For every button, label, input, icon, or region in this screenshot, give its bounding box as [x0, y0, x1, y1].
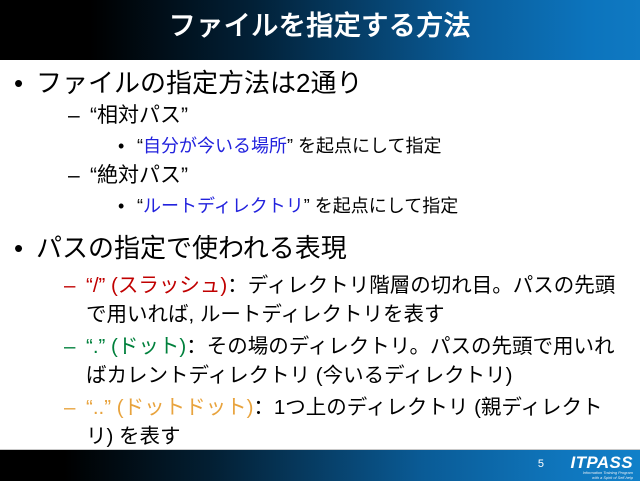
- bullet-dot-icon: •: [14, 231, 23, 265]
- slash-term: “/” (スラッシュ): [86, 274, 227, 297]
- bullet-level2-relative-path: – “相対パス”: [0, 102, 640, 130]
- dotdot-term: “..” (ドットドット): [86, 396, 253, 419]
- dash-icon: –: [64, 393, 75, 422]
- absolute-path-label: “絶対パス”: [90, 164, 188, 187]
- itpass-logo-name: ITPASS: [549, 454, 633, 471]
- slide-footer-bar: 5 ITPASS Information Training Program wi…: [0, 449, 640, 481]
- bullet-level2-slash: –“/” (スラッシュ)：ディレクトリ階層の切れ目。パスの先頭で用いれば, ルー…: [0, 271, 640, 329]
- bullet-level1-section1: • ファイルの指定方法は2通り: [0, 66, 640, 100]
- relative-path-note-rest: を起点にして指定: [293, 136, 441, 156]
- absolute-path-emphasis: ルートディレクトリ: [143, 196, 304, 216]
- dot-term: “.” (ドット): [86, 335, 186, 358]
- bullet-level2-absolute-path: – “絶対パス”: [0, 162, 640, 190]
- slide-title-bar: ファイルを指定する方法: [0, 0, 640, 60]
- itpass-logo: ITPASS Information Training Program with…: [549, 454, 633, 480]
- bullet-level3-absolute-path-note: • “ルートディレクトリ” を起点にして指定: [0, 193, 640, 219]
- dash-icon: –: [64, 332, 75, 361]
- bullet-level2-dot: –“.” (ドット)：その場のディレクトリ。パスの先頭で用いればカレントディレク…: [0, 332, 640, 390]
- page-title: ファイルを指定する方法: [0, 9, 640, 43]
- dash-icon: –: [68, 162, 80, 190]
- bullet-dot-icon: •: [14, 66, 23, 100]
- relative-path-label: “相対パス”: [90, 104, 188, 127]
- relative-path-emphasis: 自分が今いる場所: [143, 136, 287, 156]
- absolute-path-note-rest: を起点にして指定: [310, 196, 458, 216]
- bullet-dot-icon: •: [118, 193, 124, 219]
- dash-icon: –: [68, 102, 80, 130]
- bullet-level3-relative-path-note: • “自分が今いる場所” を起点にして指定: [0, 133, 640, 159]
- bullet-dot-icon: •: [118, 133, 124, 159]
- itpass-tagline-line2: with a Spirit of Self-help: [549, 476, 633, 481]
- section1-heading: ファイルの指定方法は2通り: [36, 68, 362, 98]
- bullet-level1-section2: • パスの指定で使われる表現: [0, 231, 640, 265]
- bullet-level2-dotdot: –“..” (ドットドット)：1つ上のディレクトリ (親ディレクトリ) を表す: [0, 393, 640, 451]
- page-number: 5: [538, 458, 544, 470]
- slide-content: • ファイルの指定方法は2通り – “相対パス” • “自分が今いる場所” を起…: [0, 60, 640, 448]
- dash-icon: –: [64, 271, 75, 300]
- section2-heading: パスの指定で使われる表現: [36, 233, 347, 263]
